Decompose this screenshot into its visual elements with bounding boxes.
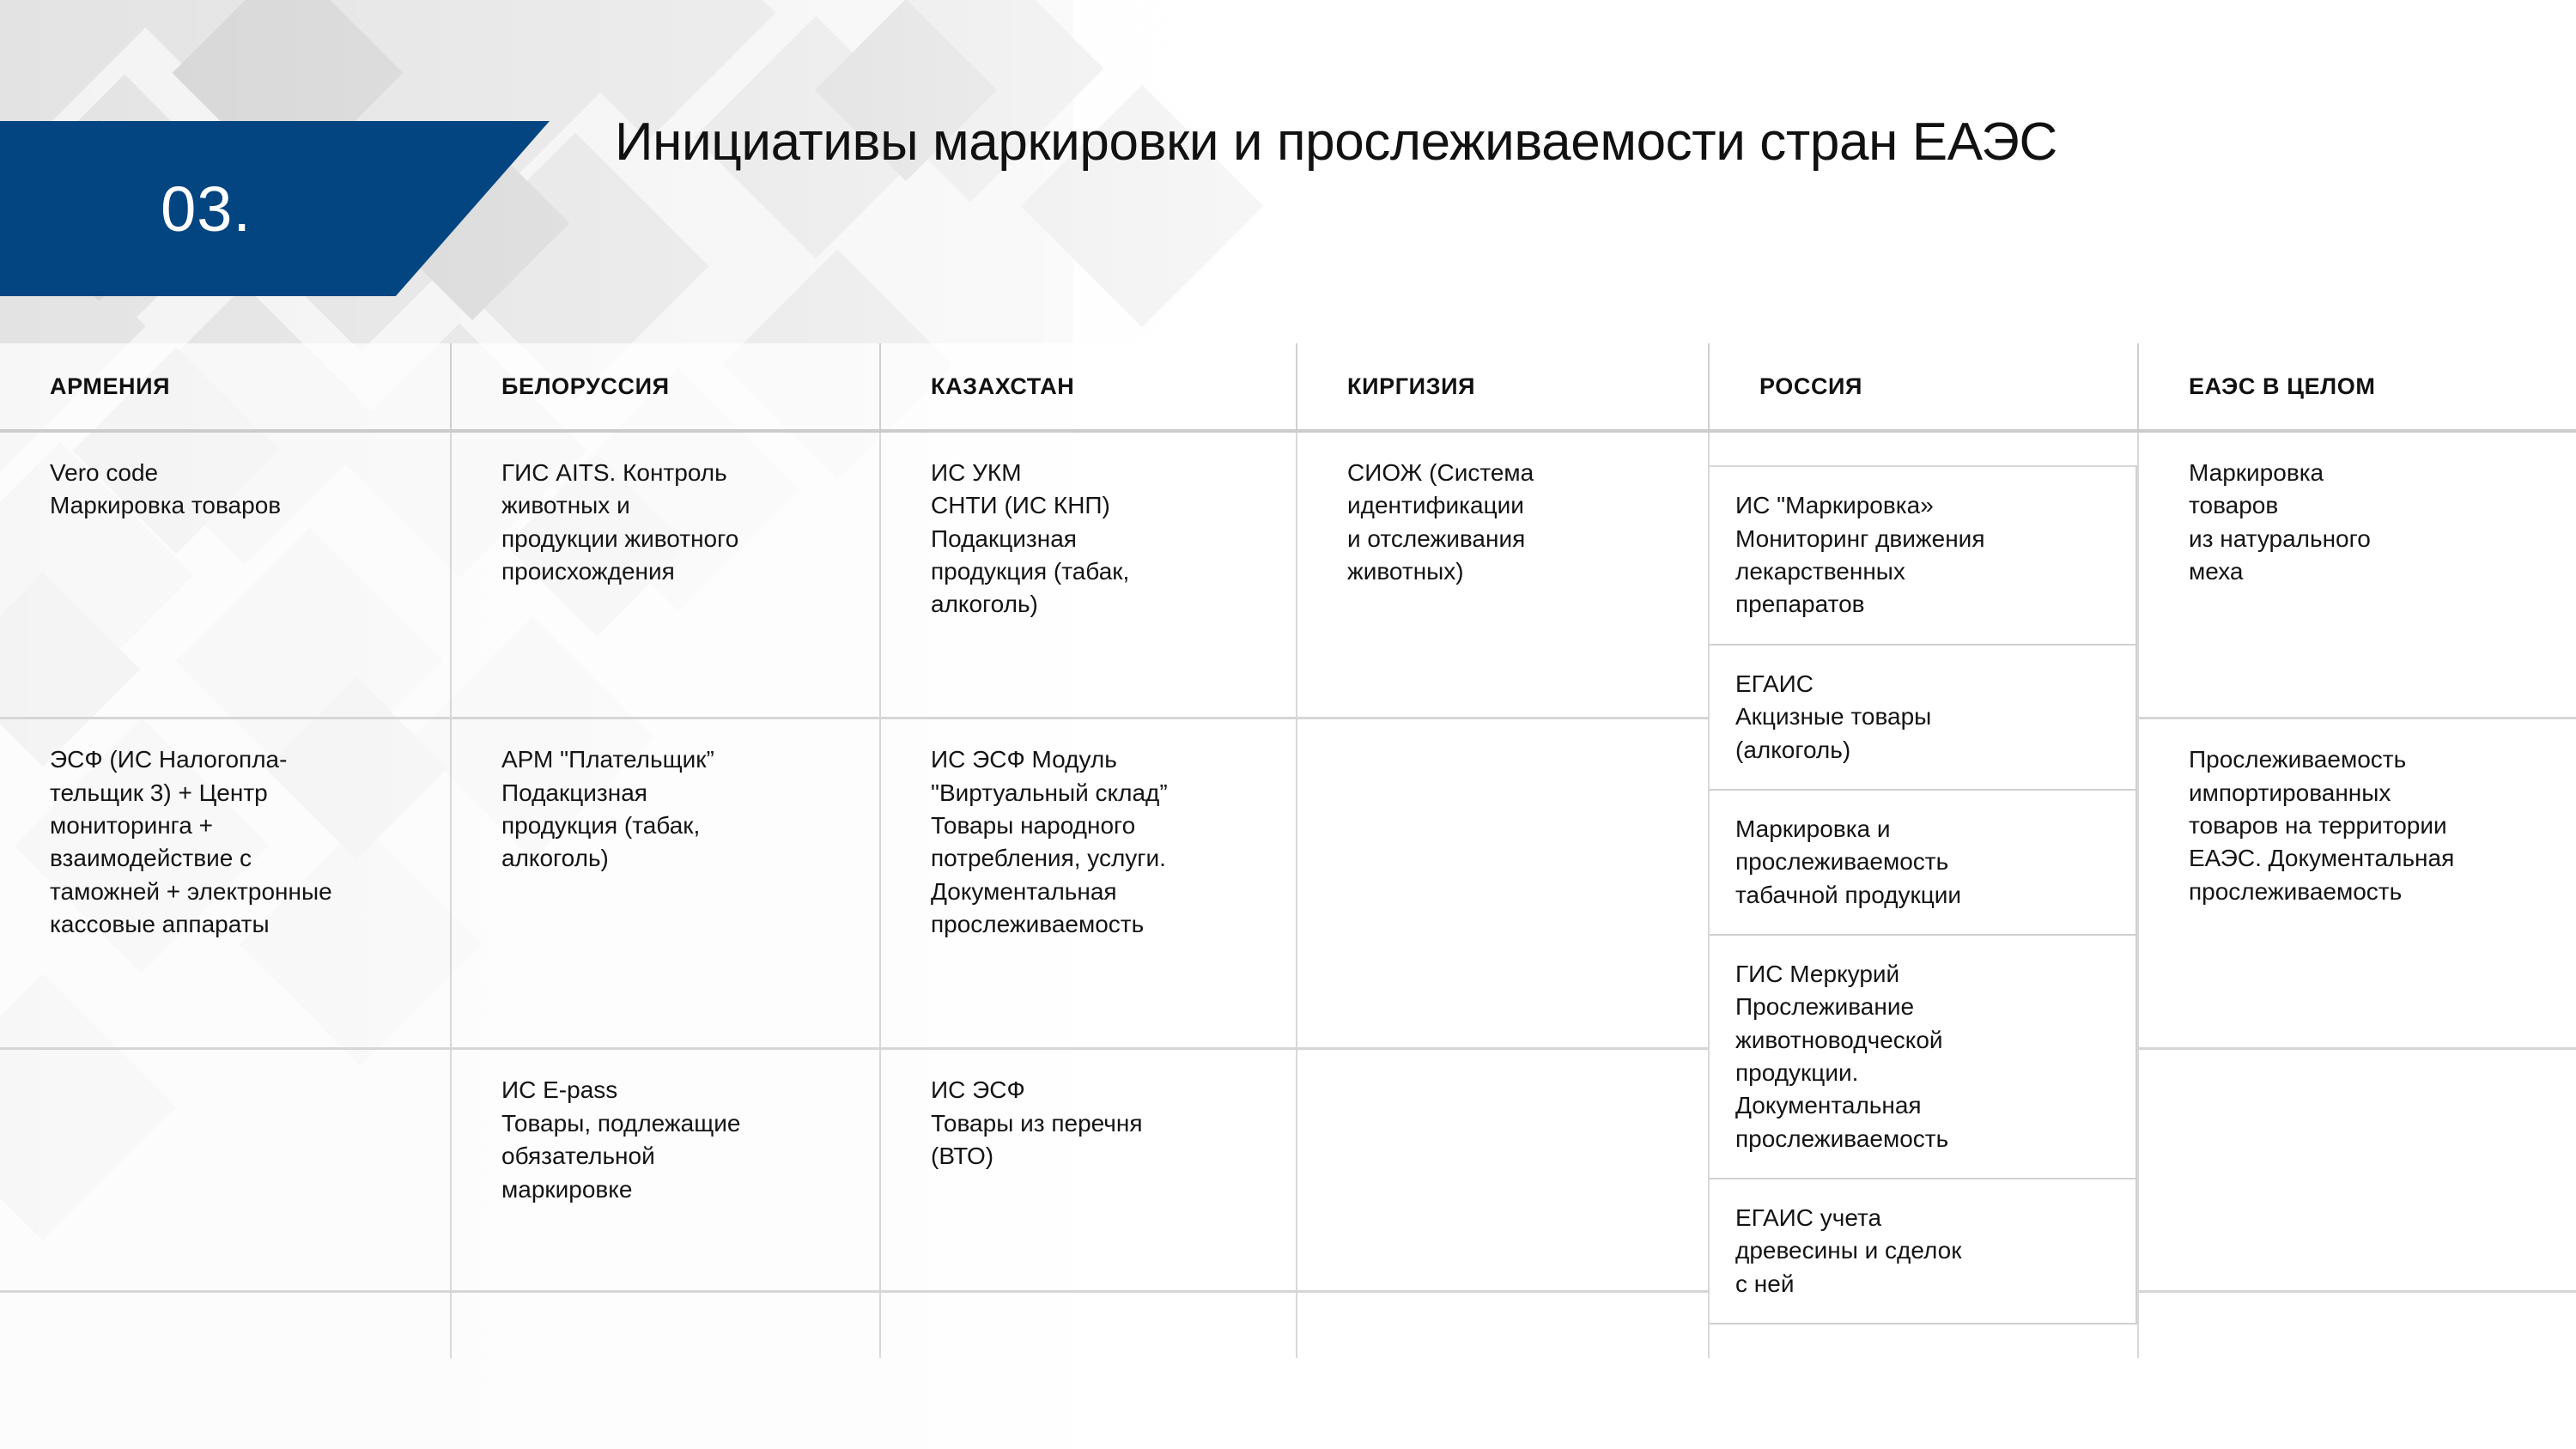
cell-armenia-1: Vero code Маркировка товаров [0, 431, 451, 718]
countries-table-container: АРМЕНИЯ БЕЛОРУССИЯ КАЗАХСТАН КИРГИЗИЯ РО… [0, 343, 2576, 1449]
cell-kyrgyzstan-4 [1297, 1292, 1709, 1358]
table-row [0, 1292, 2576, 1358]
cell-armenia-3 [0, 1049, 451, 1292]
russia-row: ИС "Маркировка» Мониторинг движения лека… [1710, 466, 2136, 644]
cell-belarus-3: ИС E-pass Товары, подлежащие обязательно… [451, 1049, 880, 1292]
column-header-kyrgyzstan: КИРГИЗИЯ [1297, 343, 1709, 431]
russia-row: ЕГАИС Акцизные товары (алкоголь) [1710, 645, 2136, 790]
cell-russia-2: ЕГАИС Акцизные товары (алкоголь) [1710, 645, 2136, 790]
russia-row: Маркировка и прослеживаемость табачной п… [1710, 790, 2136, 935]
slide-number: 03. [161, 173, 252, 246]
table-row: Vero code Маркировка товаров ГИС AITS. К… [0, 431, 2576, 718]
cell-kazakhstan-2: ИС ЭСФ Модуль "Виртуальный склад” Товары… [880, 718, 1297, 1049]
russia-subtable: ИС "Маркировка» Мониторинг движения лека… [1710, 465, 2137, 1325]
cell-kazakhstan-1: ИС УКМ СНТИ (ИС КНП) Подакцизная продукц… [880, 431, 1297, 718]
cell-eaeu-2: Прослеживаемость импортированных товаров… [2138, 718, 2576, 1049]
page-title: Инициативы маркировки и прослеживаемости… [615, 112, 2487, 173]
cell-russia-4: ГИС Меркурий Прослеживание животноводчес… [1710, 935, 2136, 1179]
cell-eaeu-3 [2138, 1049, 2576, 1292]
russia-row: ЕГАИС учета древесины и сделок с ней [1710, 1179, 2136, 1324]
column-header-russia: РОССИЯ [1709, 343, 2138, 431]
column-header-eaeu: ЕАЭС В ЦЕЛОМ [2138, 343, 2576, 431]
cell-belarus-4 [451, 1292, 880, 1358]
cell-belarus-1: ГИС AITS. Контроль животных и продукции … [451, 431, 880, 718]
cell-kazakhstan-4 [880, 1292, 1297, 1358]
column-header-belarus: БЕЛОРУССИЯ [451, 343, 880, 431]
cell-russia-1: ИС "Маркировка» Мониторинг движения лека… [1710, 466, 2136, 644]
cell-kyrgyzstan-3 [1297, 1049, 1709, 1292]
banner-shape [0, 121, 550, 296]
column-header-armenia: АРМЕНИЯ [0, 343, 451, 431]
table-row: ИС E-pass Товары, подлежащие обязательно… [0, 1049, 2576, 1292]
cell-kyrgyzstan-1: СИОЖ (Система идентификации и отслеживан… [1297, 431, 1709, 718]
cell-russia-3: Маркировка и прослеживаемость табачной п… [1710, 790, 2136, 935]
cell-armenia-2: ЭСФ (ИС Налогопла- тельщик 3) + Центр мо… [0, 718, 451, 1049]
slide-number-banner: 03. [0, 121, 550, 296]
initiatives-table: АРМЕНИЯ БЕЛОРУССИЯ КАЗАХСТАН КИРГИЗИЯ РО… [0, 343, 2576, 1358]
cell-russia-group: ИС "Маркировка» Мониторинг движения лека… [1709, 431, 2138, 1358]
cell-belarus-2: АРМ "Плательщик” Подакцизная продукция (… [451, 718, 880, 1049]
cell-eaeu-1: Маркировка товаров из натурального меха [2138, 431, 2576, 718]
cell-kyrgyzstan-2 [1297, 718, 1709, 1049]
russia-row: ГИС Меркурий Прослеживание животноводчес… [1710, 935, 2136, 1179]
cell-eaeu-4 [2138, 1292, 2576, 1358]
cell-armenia-4 [0, 1292, 451, 1358]
cell-kazakhstan-3: ИС ЭСФ Товары из перечня (ВТО) [880, 1049, 1297, 1292]
table-header-row: АРМЕНИЯ БЕЛОРУССИЯ КАЗАХСТАН КИРГИЗИЯ РО… [0, 343, 2576, 431]
cell-russia-5: ЕГАИС учета древесины и сделок с ней [1710, 1179, 2136, 1324]
table-row: ЭСФ (ИС Налогопла- тельщик 3) + Центр мо… [0, 718, 2576, 1049]
column-header-kazakhstan: КАЗАХСТАН [880, 343, 1297, 431]
